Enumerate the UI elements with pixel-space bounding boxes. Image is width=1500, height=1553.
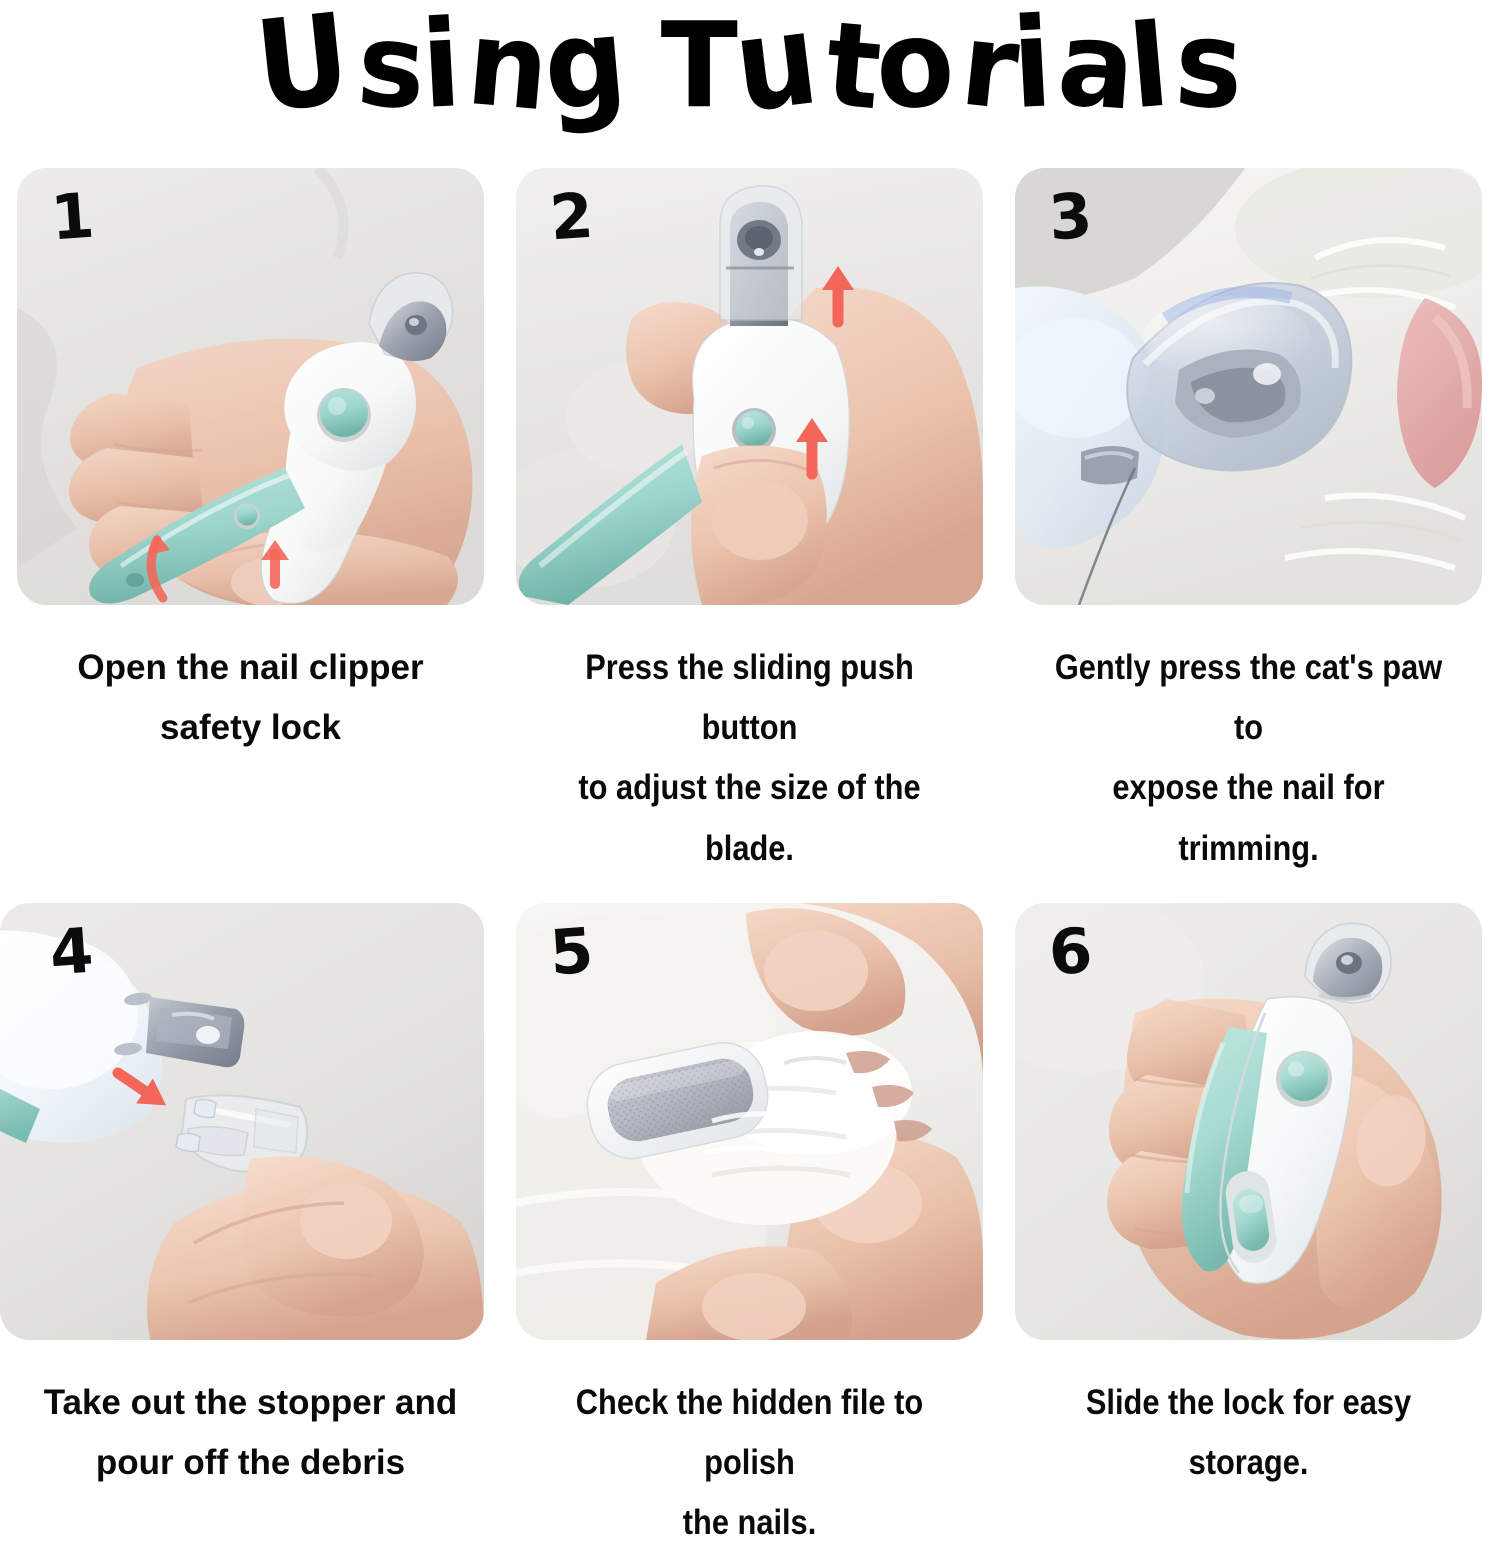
step-5-caption: Check the hidden file to polish the nail… — [544, 1373, 955, 1553]
title-glyph: s — [1172, 0, 1245, 130]
step-4-caption-line-2: pour off the debris — [23, 1433, 478, 1493]
tutorial-step-5: 5 — [516, 903, 983, 1553]
step-2-caption-line-2: to adjust the size of the blade. — [549, 758, 949, 878]
step-1-caption: Open the nail clipper safety lock — [17, 638, 484, 758]
tutorial-step-4: 4 — [0, 903, 484, 1553]
step-2-photo: 2 — [516, 168, 983, 605]
title-glyph: g — [538, 0, 629, 132]
step-1-caption-line-1: Open the nail clipper — [23, 638, 478, 698]
step-2-caption: Press the sliding push button to adjust … — [544, 638, 955, 879]
step-1-number: 1 — [49, 185, 96, 250]
step-2-number: 2 — [548, 185, 595, 250]
step-3-number: 3 — [1047, 185, 1094, 250]
title-glyph: T — [661, 4, 737, 128]
step-4-caption-line-1: Take out the stopper and — [23, 1373, 478, 1433]
tutorial-step-1: 1 — [17, 168, 484, 879]
title-glyph: i — [1010, 0, 1055, 130]
step-2-caption-line-1: Press the sliding push button — [549, 638, 949, 758]
step-3-caption-line-1: Gently press the cat's paw to — [1048, 638, 1448, 758]
title-glyph: l — [1125, 6, 1173, 129]
step-5-number: 5 — [548, 919, 595, 984]
tutorial-step-2: 2 — [516, 168, 983, 879]
step-5-photo: 5 — [516, 903, 983, 1340]
step-5-caption-line-2: the nails. — [549, 1493, 949, 1553]
page-header: UsingTutorials — [0, 0, 1500, 168]
title-glyph: i — [419, 1, 463, 129]
title-glyph: U — [250, 0, 354, 134]
step-5-caption-line-1: Check the hidden file to polish — [549, 1373, 949, 1493]
step-6-caption: Slide the lock for easy storage. — [1043, 1373, 1454, 1493]
step-6-number: 6 — [1047, 919, 1094, 984]
step-4-photo: 4 — [0, 903, 484, 1340]
tutorial-step-3: 3 — [1015, 168, 1482, 879]
step-4-caption: Take out the stopper and pour off the de… — [17, 1373, 484, 1493]
step-4-number: 4 — [48, 919, 95, 984]
page-title: UsingTutorials — [259, 4, 1241, 128]
step-1-caption-line-2: safety lock — [23, 698, 478, 758]
title-glyph: o — [872, 0, 958, 131]
title-glyph: n — [462, 1, 552, 131]
step-6-photo: 6 — [1015, 903, 1482, 1340]
step-1-photo: 1 — [17, 168, 484, 605]
title-glyph: s — [354, 4, 429, 130]
step-6-caption-line-1: Slide the lock for easy — [1048, 1373, 1448, 1433]
step-3-caption: Gently press the cat's paw to expose the… — [1043, 638, 1454, 879]
tutorial-step-6: 6 — [1015, 903, 1482, 1553]
tutorial-grid-row-1: 1 — [0, 168, 1500, 879]
tutorial-grid-row-2: 4 — [0, 903, 1500, 1553]
step-6-caption-line-2: storage. — [1048, 1433, 1448, 1493]
step-3-photo: 3 — [1015, 168, 1482, 605]
step-3-caption-line-2: expose the nail for trimming. — [1048, 758, 1448, 878]
title-glyph: u — [727, 0, 822, 135]
